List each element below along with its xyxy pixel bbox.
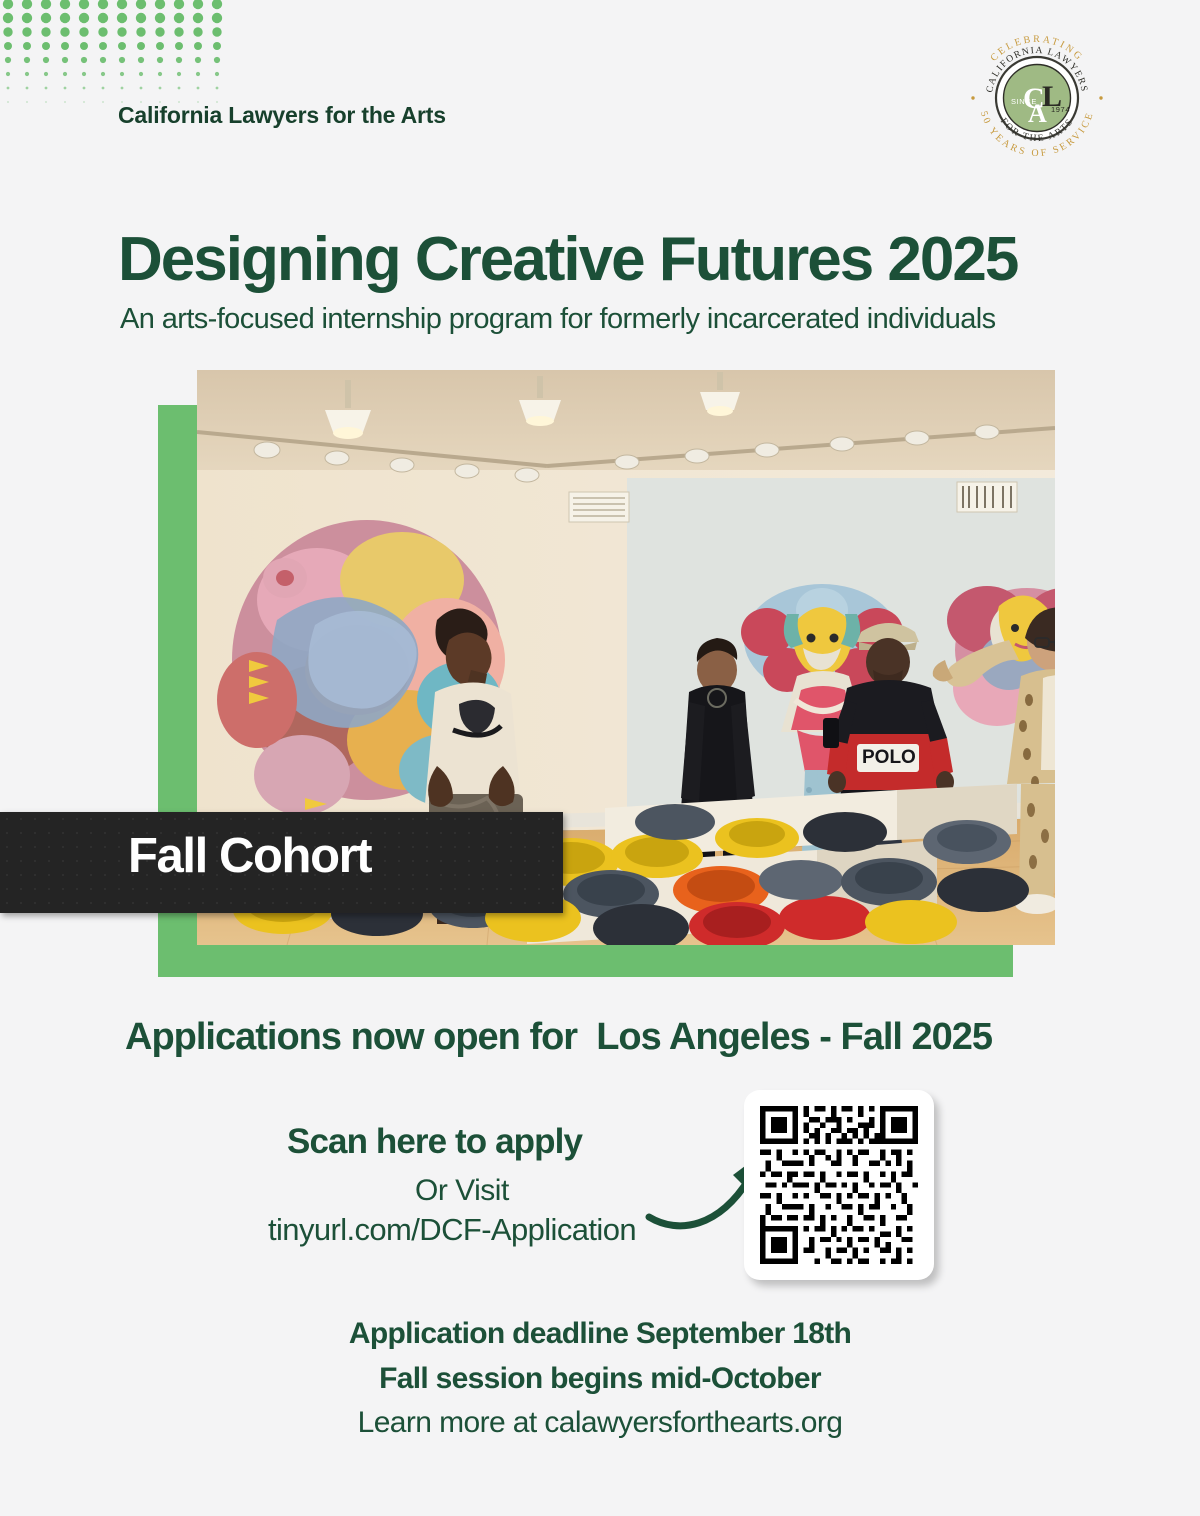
- svg-text:POLO: POLO: [862, 747, 916, 768]
- svg-text:1974: 1974: [1051, 105, 1070, 114]
- application-url[interactable]: tinyurl.com/DCF-Application: [268, 1212, 636, 1248]
- organization-name: California Lawyers for the Arts: [118, 102, 446, 129]
- poster-canvas: California Lawyers for the Arts C L A SI…: [0, 0, 1200, 1516]
- cla-seal-logo-icon: C L A SINCE 1974 CALIFORNIA LAWYERS FOR …: [963, 24, 1111, 172]
- applications-open-line: Applications now open for Los Angeles - …: [125, 1016, 992, 1059]
- application-deadline: Application deadline September 18th: [0, 1317, 1200, 1351]
- or-visit-label: Or Visit: [415, 1174, 509, 1208]
- svg-text:SINCE: SINCE: [1011, 97, 1037, 106]
- page-title: Designing Creative Futures 2025: [118, 224, 1017, 295]
- learn-more-line: Learn more at calawyersforthearts.org: [0, 1406, 1200, 1440]
- scan-here-heading: Scan here to apply: [287, 1122, 582, 1162]
- qr-code-card[interactable]: [744, 1090, 934, 1280]
- page-subtitle: An arts-focused internship program for f…: [120, 303, 996, 336]
- session-start: Fall session begins mid-October: [0, 1362, 1200, 1396]
- fall-cohort-label: Fall Cohort: [128, 828, 371, 884]
